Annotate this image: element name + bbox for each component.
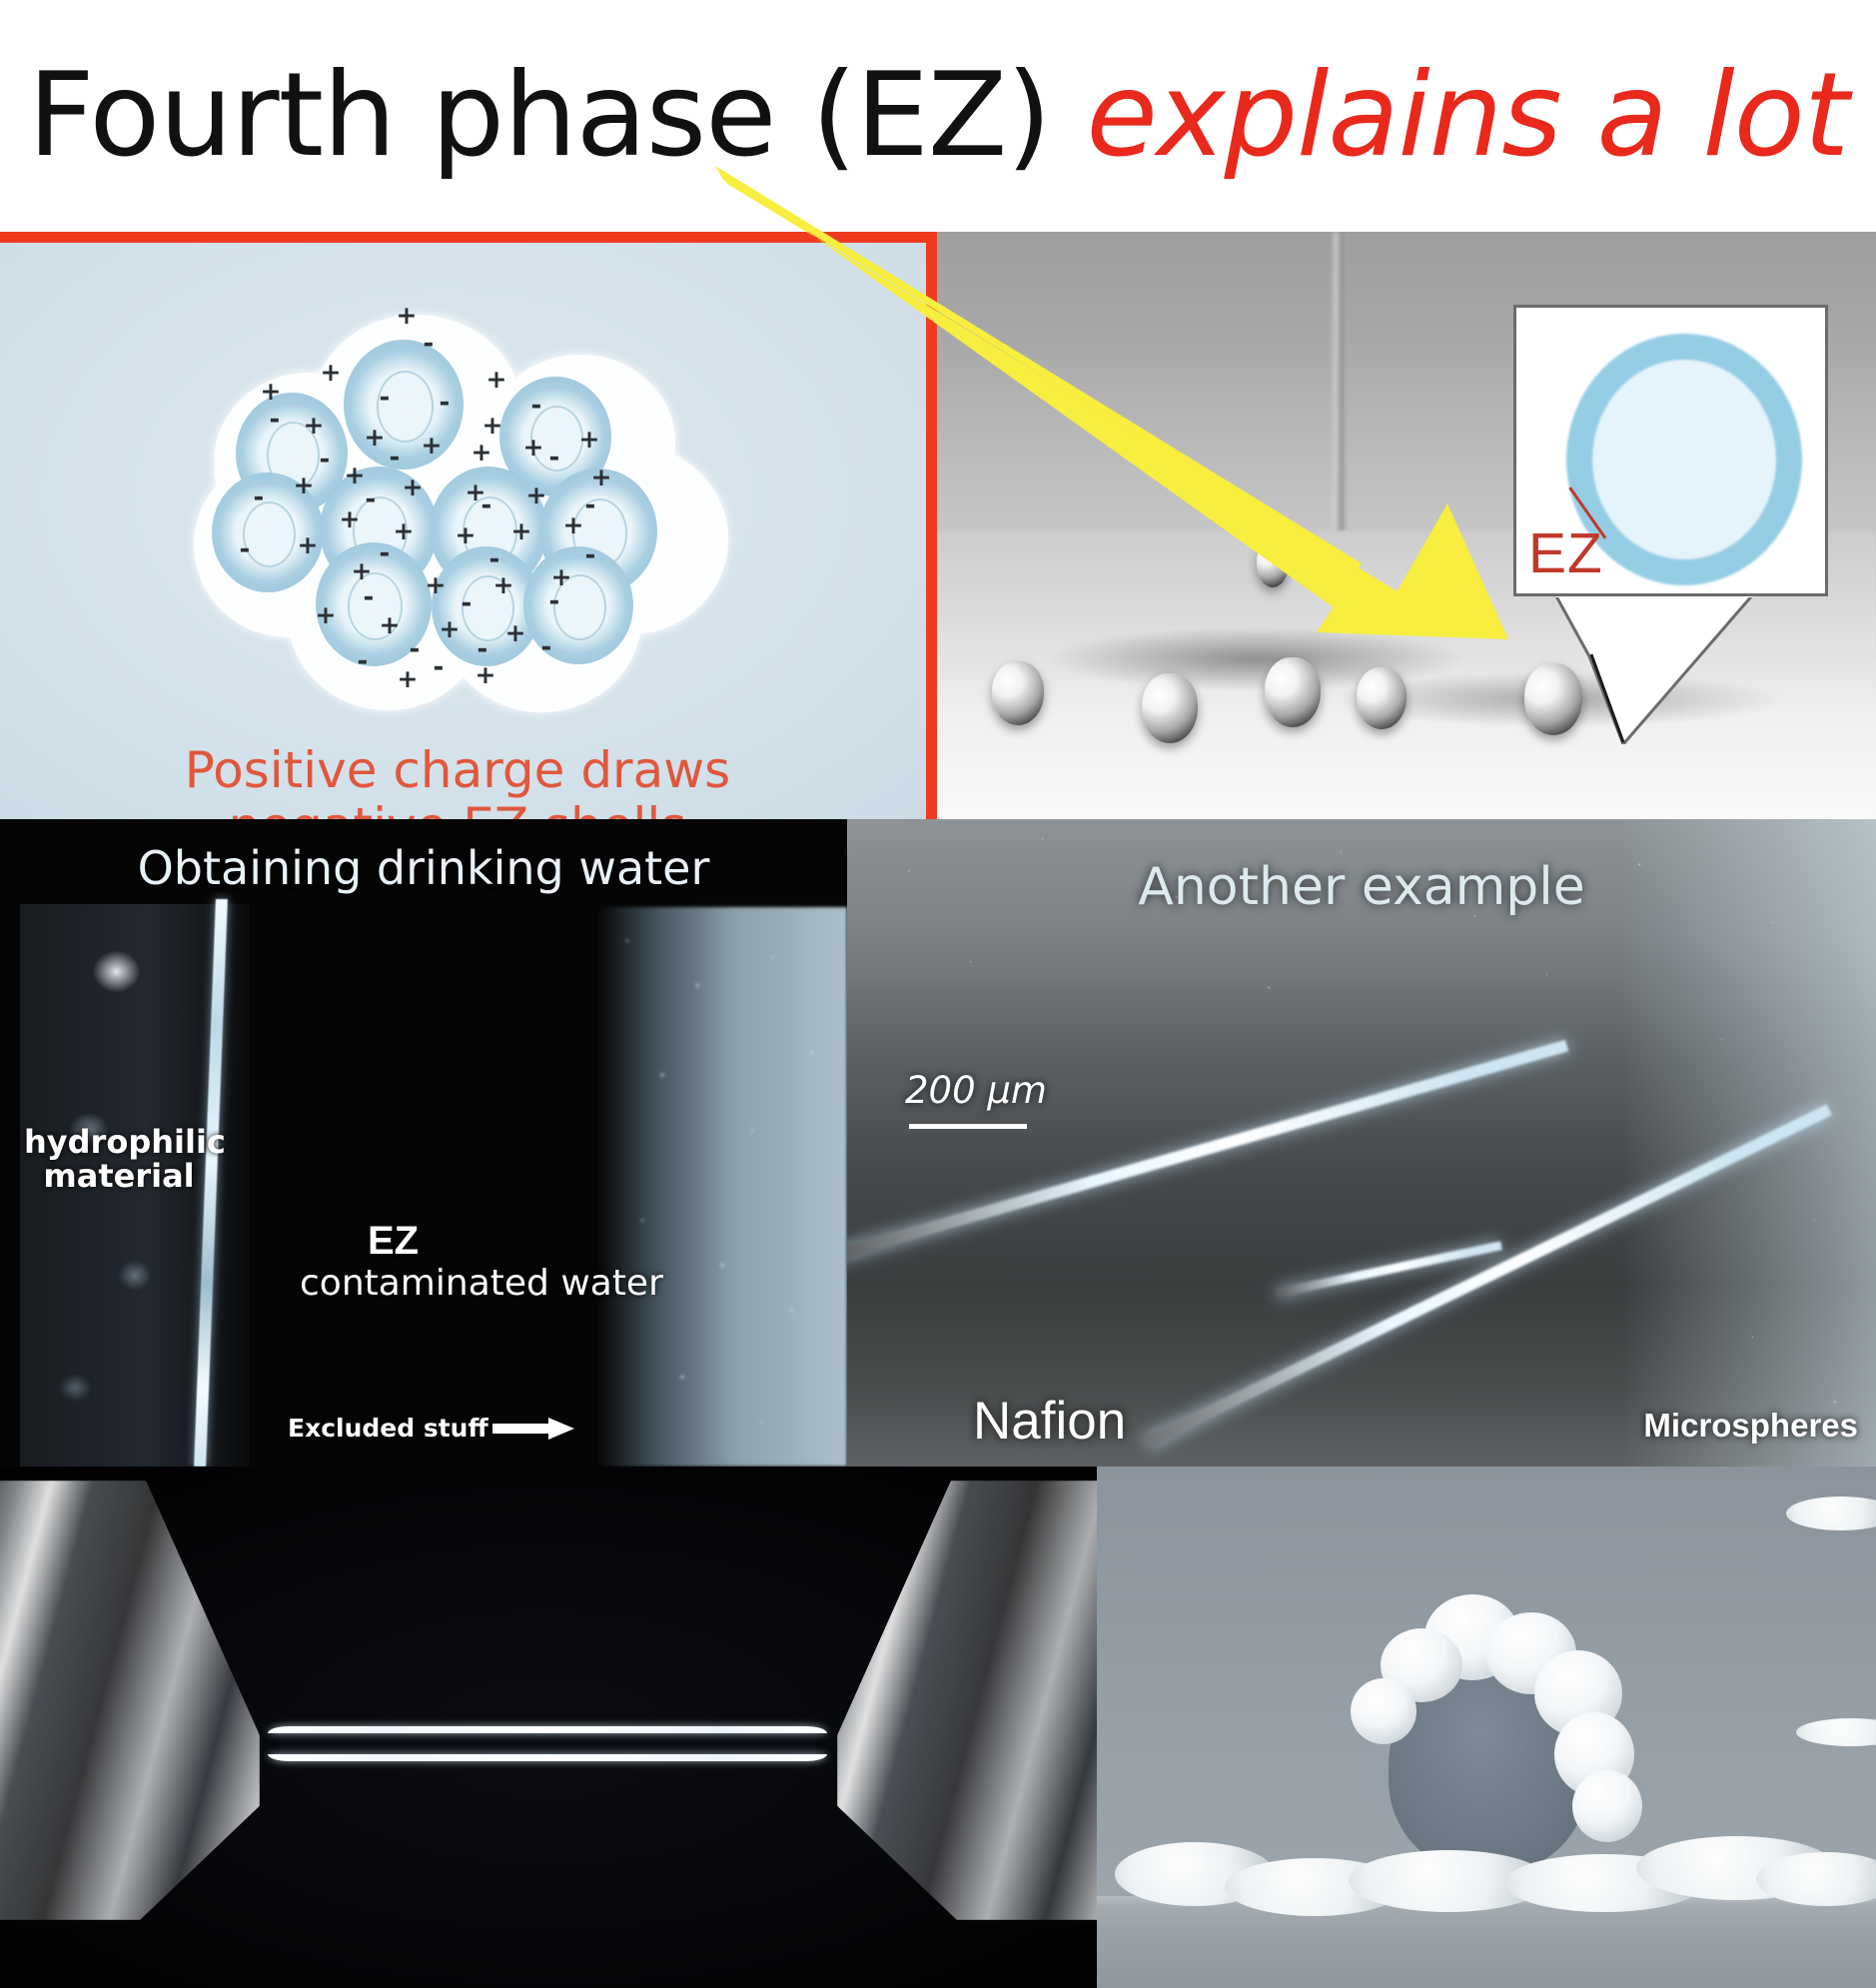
plus-charge: + — [294, 473, 315, 497]
page-title-red-part: explains a lot — [1087, 48, 1849, 183]
minus-charge: - — [531, 393, 542, 419]
plus-charge: + — [591, 465, 612, 490]
nafion-panel-title: Another example — [847, 857, 1876, 917]
plus-charge: + — [471, 440, 492, 465]
minus-charge: - — [585, 542, 596, 568]
scale-bar-label: 200 µm — [905, 1069, 1047, 1112]
plus-charge: + — [475, 662, 496, 687]
panel-water-bridge — [0, 1467, 1097, 1988]
cloud-puff — [1351, 1678, 1416, 1744]
page-title: Fourth phase (EZ) explains a lot — [28, 58, 1848, 174]
plus-charge: + — [523, 435, 544, 460]
cloud-caption: Positive charge draws negative EZ shells — [0, 742, 915, 819]
cloud-puff — [1572, 1770, 1642, 1842]
minus-charge: - — [549, 445, 560, 471]
cloud-illustration: + + + + + + + + + + + + + + + + + + + + … — [194, 285, 733, 714]
plus-charge: + — [298, 532, 319, 557]
plus-charge: + — [505, 620, 526, 645]
plus-charge: + — [486, 367, 507, 392]
minus-charge: - — [390, 445, 401, 471]
plus-charge: + — [316, 602, 337, 627]
water-droplet — [992, 661, 1044, 725]
contaminated-water-label: contaminated water — [300, 1263, 663, 1304]
minus-charge: - — [434, 654, 445, 680]
panel-cloud-diagram: + + + + + + + + + + + + + + + + + + + + … — [0, 232, 937, 819]
nafion-label: Nafion — [973, 1391, 1126, 1452]
minus-charge: - — [489, 546, 500, 572]
minus-charge: - — [380, 540, 391, 566]
ez-callout-box: EZ — [1513, 305, 1828, 596]
scale-bar — [909, 1124, 1027, 1129]
ez-callout-label: EZ — [1528, 525, 1603, 582]
slide-title: Fourth phase (EZ) explains a lot — [0, 0, 1876, 232]
cumulus-cloud — [1337, 1594, 1646, 1874]
hydrophilic-label-line-2: material — [24, 1160, 214, 1194]
excluded-stuff-label: Excluded stuff — [288, 1414, 488, 1443]
minus-charge: - — [240, 536, 251, 562]
plus-charge: + — [261, 379, 282, 404]
plus-charge: + — [352, 558, 373, 583]
minus-charge: - — [462, 590, 472, 616]
minus-charge: - — [477, 636, 488, 662]
excluded-stuff-annotation: Excluded stuff — [288, 1414, 574, 1443]
minus-charge: - — [358, 648, 369, 674]
plus-charge: + — [440, 616, 461, 641]
minus-charge: - — [380, 385, 391, 411]
minus-charge: - — [366, 487, 377, 512]
minus-charge: - — [541, 634, 552, 660]
plus-charge: + — [365, 425, 386, 450]
sea-surface — [1097, 1896, 1876, 1988]
plus-charge: + — [422, 433, 443, 458]
panel-sky-cloud — [1097, 1467, 1876, 1988]
capillary-rod — [1332, 232, 1348, 531]
minus-charge: - — [410, 636, 421, 662]
plus-charge: + — [563, 512, 584, 537]
panel-nafion-microspheres: Another example 200 µm Nafion Microspher… — [847, 819, 1876, 1467]
minus-charge: - — [585, 493, 596, 518]
water-bridge-strand — [268, 1724, 827, 1768]
contaminated-water-region — [597, 907, 847, 1467]
panel-drinking-water: Obtaining drinking water hydrophilic mat… — [0, 819, 847, 1467]
plus-charge: + — [397, 303, 418, 328]
minus-charge: - — [481, 493, 492, 518]
bridge-lower-surface — [268, 1754, 827, 1761]
minus-charge: - — [424, 331, 435, 357]
plus-charge: + — [394, 518, 415, 543]
cloud-caption-line-1: Positive charge draws — [0, 742, 915, 798]
plus-charge: + — [482, 413, 503, 438]
minus-charge: - — [440, 390, 451, 416]
drinking-water-title: Obtaining drinking water — [0, 841, 847, 895]
plus-charge: + — [398, 666, 419, 691]
plus-charge: + — [304, 413, 325, 438]
minus-charge: - — [549, 588, 560, 614]
minus-charge: - — [270, 407, 281, 433]
plus-charge: + — [380, 612, 401, 637]
plus-charge: + — [579, 427, 600, 452]
right-arrow-icon — [492, 1420, 574, 1438]
plus-charge: + — [511, 518, 532, 543]
plus-charge: + — [426, 572, 447, 597]
page-title-black-part: Fourth phase (EZ) — [28, 48, 1087, 183]
minus-charge: - — [320, 447, 331, 473]
water-droplet — [1357, 667, 1407, 729]
hydrophilic-material-label: hydrophilic material — [24, 1126, 214, 1194]
ez-zone-label: EZ — [368, 1219, 419, 1264]
water-droplet — [1257, 539, 1289, 587]
minus-charge: - — [364, 584, 375, 610]
plus-charge: + — [456, 522, 476, 547]
plus-charge: + — [321, 360, 342, 385]
plus-charge: + — [345, 463, 366, 488]
hydrophilic-label-line-1: hydrophilic — [24, 1126, 214, 1160]
cloud-caption-line-2: negative EZ shells — [0, 798, 915, 819]
water-droplet — [1265, 657, 1321, 727]
water-droplet — [1142, 673, 1198, 743]
plus-charge: + — [340, 506, 361, 531]
minus-charge: - — [254, 485, 265, 510]
ez-shell — [523, 546, 633, 664]
bridge-upper-surface — [268, 1726, 827, 1733]
callout-pointer-tail — [1553, 594, 1753, 744]
plus-charge: + — [493, 572, 514, 597]
plus-charge: + — [526, 483, 547, 507]
slide-canvas: Fourth phase (EZ) explains a lot — [0, 0, 1876, 1988]
microspheres-label: Microspheres — [1643, 1407, 1858, 1445]
plus-charge: + — [403, 475, 424, 499]
